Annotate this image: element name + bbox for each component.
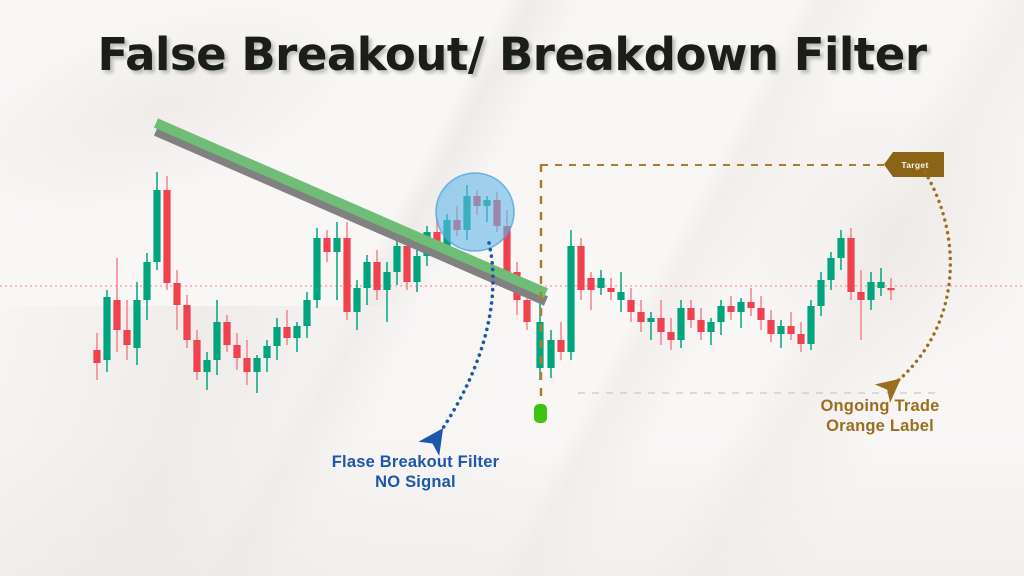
- candle: [757, 296, 764, 330]
- candle: [807, 300, 814, 350]
- candle: [413, 250, 420, 292]
- candle: [193, 330, 200, 380]
- candle: [353, 280, 360, 330]
- candle: [203, 352, 210, 390]
- candle: [827, 252, 834, 290]
- candle: [717, 300, 724, 335]
- candle: [253, 355, 260, 393]
- candle: [293, 322, 300, 352]
- candle: [93, 333, 100, 380]
- candle: [567, 230, 574, 360]
- candle: [103, 290, 110, 372]
- candle: [323, 230, 330, 262]
- candle: [877, 268, 884, 296]
- candle: [263, 340, 270, 372]
- candle: [223, 315, 230, 352]
- candle: [887, 278, 894, 300]
- target-badge[interactable]: Target: [884, 152, 944, 177]
- candle: [393, 238, 400, 285]
- candle: [677, 300, 684, 348]
- candle: [777, 320, 784, 348]
- candle: [727, 296, 734, 320]
- candle: [183, 295, 190, 348]
- candle: [383, 262, 390, 322]
- candle: [787, 312, 794, 340]
- candle: [123, 300, 130, 360]
- candle: [243, 340, 250, 385]
- candle: [597, 270, 604, 295]
- candle: [283, 310, 290, 345]
- candle: [737, 298, 744, 328]
- candle: [847, 228, 854, 300]
- candle: [333, 222, 340, 300]
- candle: [173, 270, 180, 330]
- candle: [687, 300, 694, 328]
- candle: [153, 172, 160, 270]
- candle: [837, 230, 844, 270]
- candle: [657, 300, 664, 345]
- highlight-circle: [436, 173, 514, 251]
- candle: [313, 228, 320, 308]
- candle: [817, 272, 824, 316]
- candle: [303, 292, 310, 338]
- candle: [617, 272, 624, 312]
- candle: [797, 322, 804, 352]
- candle: [577, 238, 584, 300]
- candle: [747, 288, 754, 316]
- entry-marker[interactable]: [534, 404, 547, 423]
- candle: [647, 312, 654, 340]
- candle: [547, 330, 554, 378]
- candle: [363, 255, 370, 305]
- candle: [557, 322, 564, 360]
- candle: [637, 300, 644, 332]
- candle: [707, 318, 714, 345]
- candle: [587, 272, 594, 310]
- false-breakout-label: Flase Breakout Filter NO Signal: [253, 452, 578, 492]
- candle: [273, 318, 280, 360]
- ongoing-trade-label: Ongoing Trade Orange Label: [740, 396, 1020, 436]
- target-badge-label: Target: [901, 160, 928, 170]
- candle: [343, 222, 350, 320]
- candle: [113, 258, 120, 352]
- candle: [627, 288, 634, 322]
- candle: [667, 318, 674, 350]
- ongoing-trade-arrow: [893, 172, 950, 385]
- candle: [857, 270, 864, 340]
- candle: [143, 253, 150, 320]
- candle: [867, 272, 874, 310]
- candle: [163, 176, 170, 290]
- slide-canvas: False Breakout/ Breakdown Filter: [0, 0, 1024, 576]
- candle: [767, 310, 774, 342]
- candle: [697, 308, 704, 340]
- candle: [607, 278, 614, 300]
- candle: [373, 250, 380, 300]
- candle: [233, 333, 240, 370]
- candle: [133, 282, 140, 365]
- candle: [213, 300, 220, 375]
